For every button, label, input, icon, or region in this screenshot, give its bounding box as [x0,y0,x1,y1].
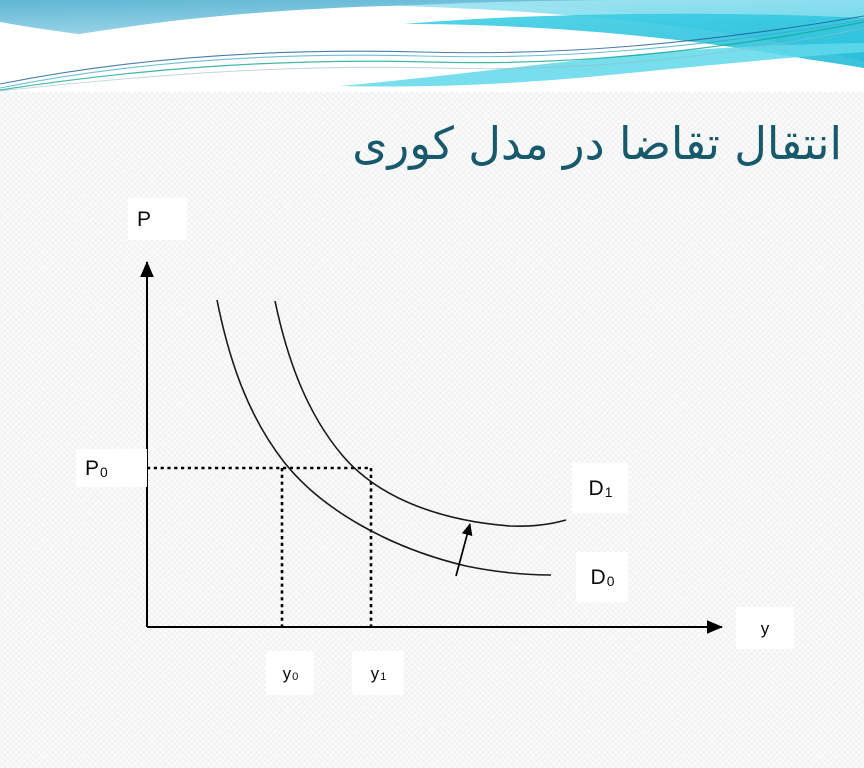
demand-curve-d1 [275,301,566,526]
d1-base-text: D [589,478,604,499]
price-level-label-p0: P0 [76,449,147,487]
price-axis-text: P [137,209,151,230]
y0-base-text: y [283,665,292,682]
x-axis-label-quantity: y [736,607,794,649]
d1-subscript: 1 [605,486,613,500]
presentation-slide: انتقال تقاضا در مدل کوری [0,0,864,768]
curve-label-d1: D1 [572,463,628,513]
curve-label-d0: D0 [576,552,628,602]
quantity-label-y0: y0 [266,651,314,695]
demand-curve-d0 [217,300,551,575]
quantity-label-y1: y1 [352,651,404,695]
y1-base-text: y [371,665,380,682]
demand-shift-chart [0,0,864,768]
p0-base-text: P [85,458,99,479]
quantity-axis-text: y [761,620,770,637]
d0-base-text: D [591,567,606,588]
y1-subscript: 1 [380,672,386,683]
d0-subscript: 0 [607,575,615,589]
y-axis-label-price: P [128,198,187,240]
y0-subscript: 0 [292,672,298,683]
p0-subscript: 0 [100,466,108,480]
demand-shift-arrow [456,524,470,576]
